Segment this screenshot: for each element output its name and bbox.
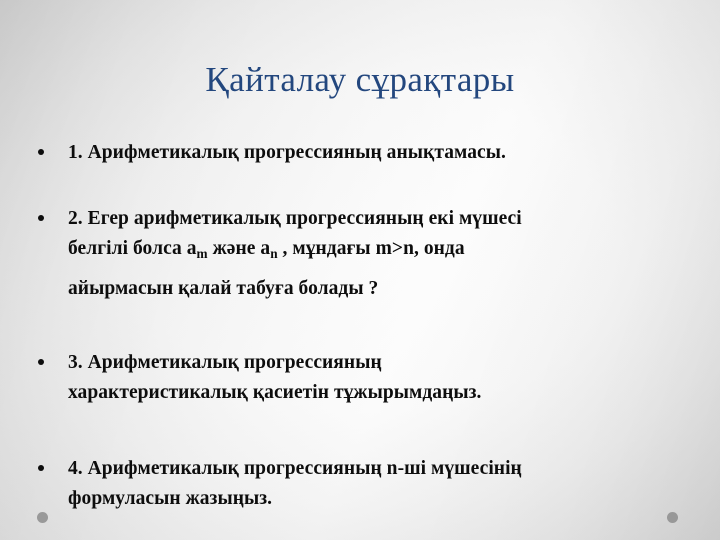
presentation-slide: Қайталау сұрақтары 1. Арифметикалық прог… xyxy=(0,0,720,540)
question-4-line-1: 4. Арифметикалық прогрессияның n-ші мүше… xyxy=(68,454,692,484)
list-item: 2. Егер арифметикалық прогрессияның екі … xyxy=(0,204,720,304)
slide-title: Қайталау сұрақтары xyxy=(40,58,680,102)
subscript-n: n xyxy=(270,246,277,261)
question-2-line-2-part-b: және a xyxy=(208,238,271,259)
question-2-line-3: айырмасын қалай табуға болады ? xyxy=(68,274,692,304)
question-2-line-2-part-a: белгілі болса a xyxy=(68,238,197,259)
list-item: 3. Арифметикалық прогрессияның характери… xyxy=(0,348,720,408)
question-3-line-1: 3. Арифметикалық прогрессияның xyxy=(68,348,692,378)
bullet-dot-icon xyxy=(38,359,44,365)
bullet-dot-icon xyxy=(38,215,44,221)
question-3-line-2: характеристикалық қасиетін тұжырымдаңыз. xyxy=(68,378,692,408)
subscript-m: m xyxy=(197,246,208,261)
question-2-line-2-part-c: , мұндағы m>n, онда xyxy=(278,238,465,259)
decorative-dot-left xyxy=(37,512,48,523)
question-2-line-1: 2. Егер арифметикалық прогрессияның екі … xyxy=(68,204,692,234)
list-item: 1. Арифметикалық прогрессияның анықтамас… xyxy=(0,138,720,168)
bullet-dot-icon xyxy=(38,149,44,155)
question-1-text: 1. Арифметикалық прогрессияның анықтамас… xyxy=(68,138,692,168)
question-4-line-2: формуласын жазыңыз. xyxy=(68,484,692,514)
question-list: 1. Арифметикалық прогрессияның анықтамас… xyxy=(0,138,720,514)
bullet-dot-icon xyxy=(38,465,44,471)
list-item: 4. Арифметикалық прогрессияның n-ші мүше… xyxy=(0,454,720,514)
question-2-line-2: белгілі болса am және an , мұндағы m>n, … xyxy=(68,234,692,265)
decorative-dot-right xyxy=(667,512,678,523)
